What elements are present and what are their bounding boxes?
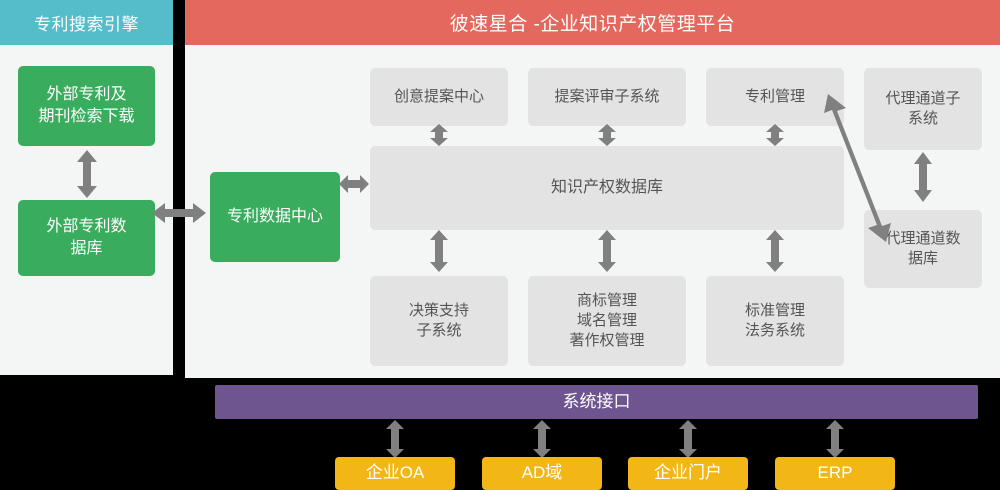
- node-label: 标准管理法务系统: [745, 301, 805, 342]
- node-label: 知识产权数据库: [551, 177, 663, 199]
- node-erp[interactable]: ERP: [775, 457, 895, 490]
- node-decision-support-subsystem[interactable]: 决策支持子系统: [370, 276, 508, 366]
- node-idea-proposal-center[interactable]: 创意提案中心: [370, 68, 508, 126]
- double-arrow-vertical-icon: [429, 124, 449, 146]
- node-patent-data-center[interactable]: 专利数据中心: [210, 172, 340, 262]
- double-arrow-diagonal-icon: [824, 94, 892, 242]
- node-enterprise-portal[interactable]: 企业门户: [628, 457, 748, 490]
- node-label: ERP: [818, 462, 853, 485]
- left-panel-title: 专利搜索引擎: [34, 10, 139, 35]
- double-arrow-vertical-icon: [385, 420, 405, 458]
- double-arrow-vertical-icon: [532, 420, 552, 458]
- double-arrow-vertical-icon: [765, 124, 785, 146]
- node-label: 商标管理域名管理著作权管理: [569, 291, 644, 352]
- double-arrow-vertical-icon: [597, 230, 617, 272]
- node-external-patent-journal-search[interactable]: 外部专利及期刊检索下载: [18, 66, 155, 146]
- node-label: 提案评审子系统: [554, 87, 659, 107]
- double-arrow-vertical-icon: [76, 150, 98, 198]
- node-label: 代理通道数据库: [885, 229, 960, 270]
- double-arrow-vertical-icon: [597, 124, 617, 146]
- left-panel-header: 专利搜索引擎: [0, 0, 173, 45]
- right-panel-title: 彼速星合 -企业知识产权管理平台: [450, 9, 736, 36]
- double-arrow-vertical-icon: [678, 420, 698, 458]
- double-arrow-vertical-icon: [765, 230, 785, 272]
- node-enterprise-oa[interactable]: 企业OA: [335, 457, 455, 490]
- double-arrow-horizontal-icon: [152, 202, 206, 224]
- node-label: 专利管理: [745, 87, 805, 107]
- node-label: 创意提案中心: [394, 87, 484, 107]
- node-label: AD域: [522, 462, 563, 485]
- double-arrow-horizontal-icon: [339, 174, 369, 194]
- right-panel-header: 彼速星合 -企业知识产权管理平台: [185, 0, 1000, 45]
- node-label: 外部专利数据库: [46, 216, 126, 259]
- node-trademark-domain-copyright-management[interactable]: 商标管理域名管理著作权管理: [528, 276, 686, 366]
- double-arrow-vertical-icon: [913, 152, 933, 202]
- diagram-canvas: 专利搜索引擎 外部专利及期刊检索下载 外部专利数据库 彼速星合 -企业知识产权管…: [0, 0, 1000, 490]
- double-arrow-vertical-icon: [825, 420, 845, 458]
- node-label: 企业OA: [366, 462, 425, 485]
- node-label: 代理通道子系统: [885, 89, 960, 130]
- node-ip-database[interactable]: 知识产权数据库: [370, 146, 844, 230]
- node-proposal-review-subsystem[interactable]: 提案评审子系统: [528, 68, 686, 126]
- node-label: 决策支持子系统: [409, 301, 469, 342]
- node-label: 企业门户: [654, 462, 722, 485]
- double-arrow-vertical-icon: [429, 230, 449, 272]
- node-ad-domain[interactable]: AD域: [482, 457, 602, 490]
- system-interface-label: 系统接口: [563, 391, 631, 414]
- node-standard-legal-management[interactable]: 标准管理法务系统: [706, 276, 844, 366]
- node-external-patent-database[interactable]: 外部专利数据库: [18, 200, 155, 276]
- system-interface-bar[interactable]: 系统接口: [215, 385, 978, 419]
- node-label: 外部专利及期刊检索下载: [38, 84, 134, 127]
- node-label: 专利数据中心: [227, 206, 323, 228]
